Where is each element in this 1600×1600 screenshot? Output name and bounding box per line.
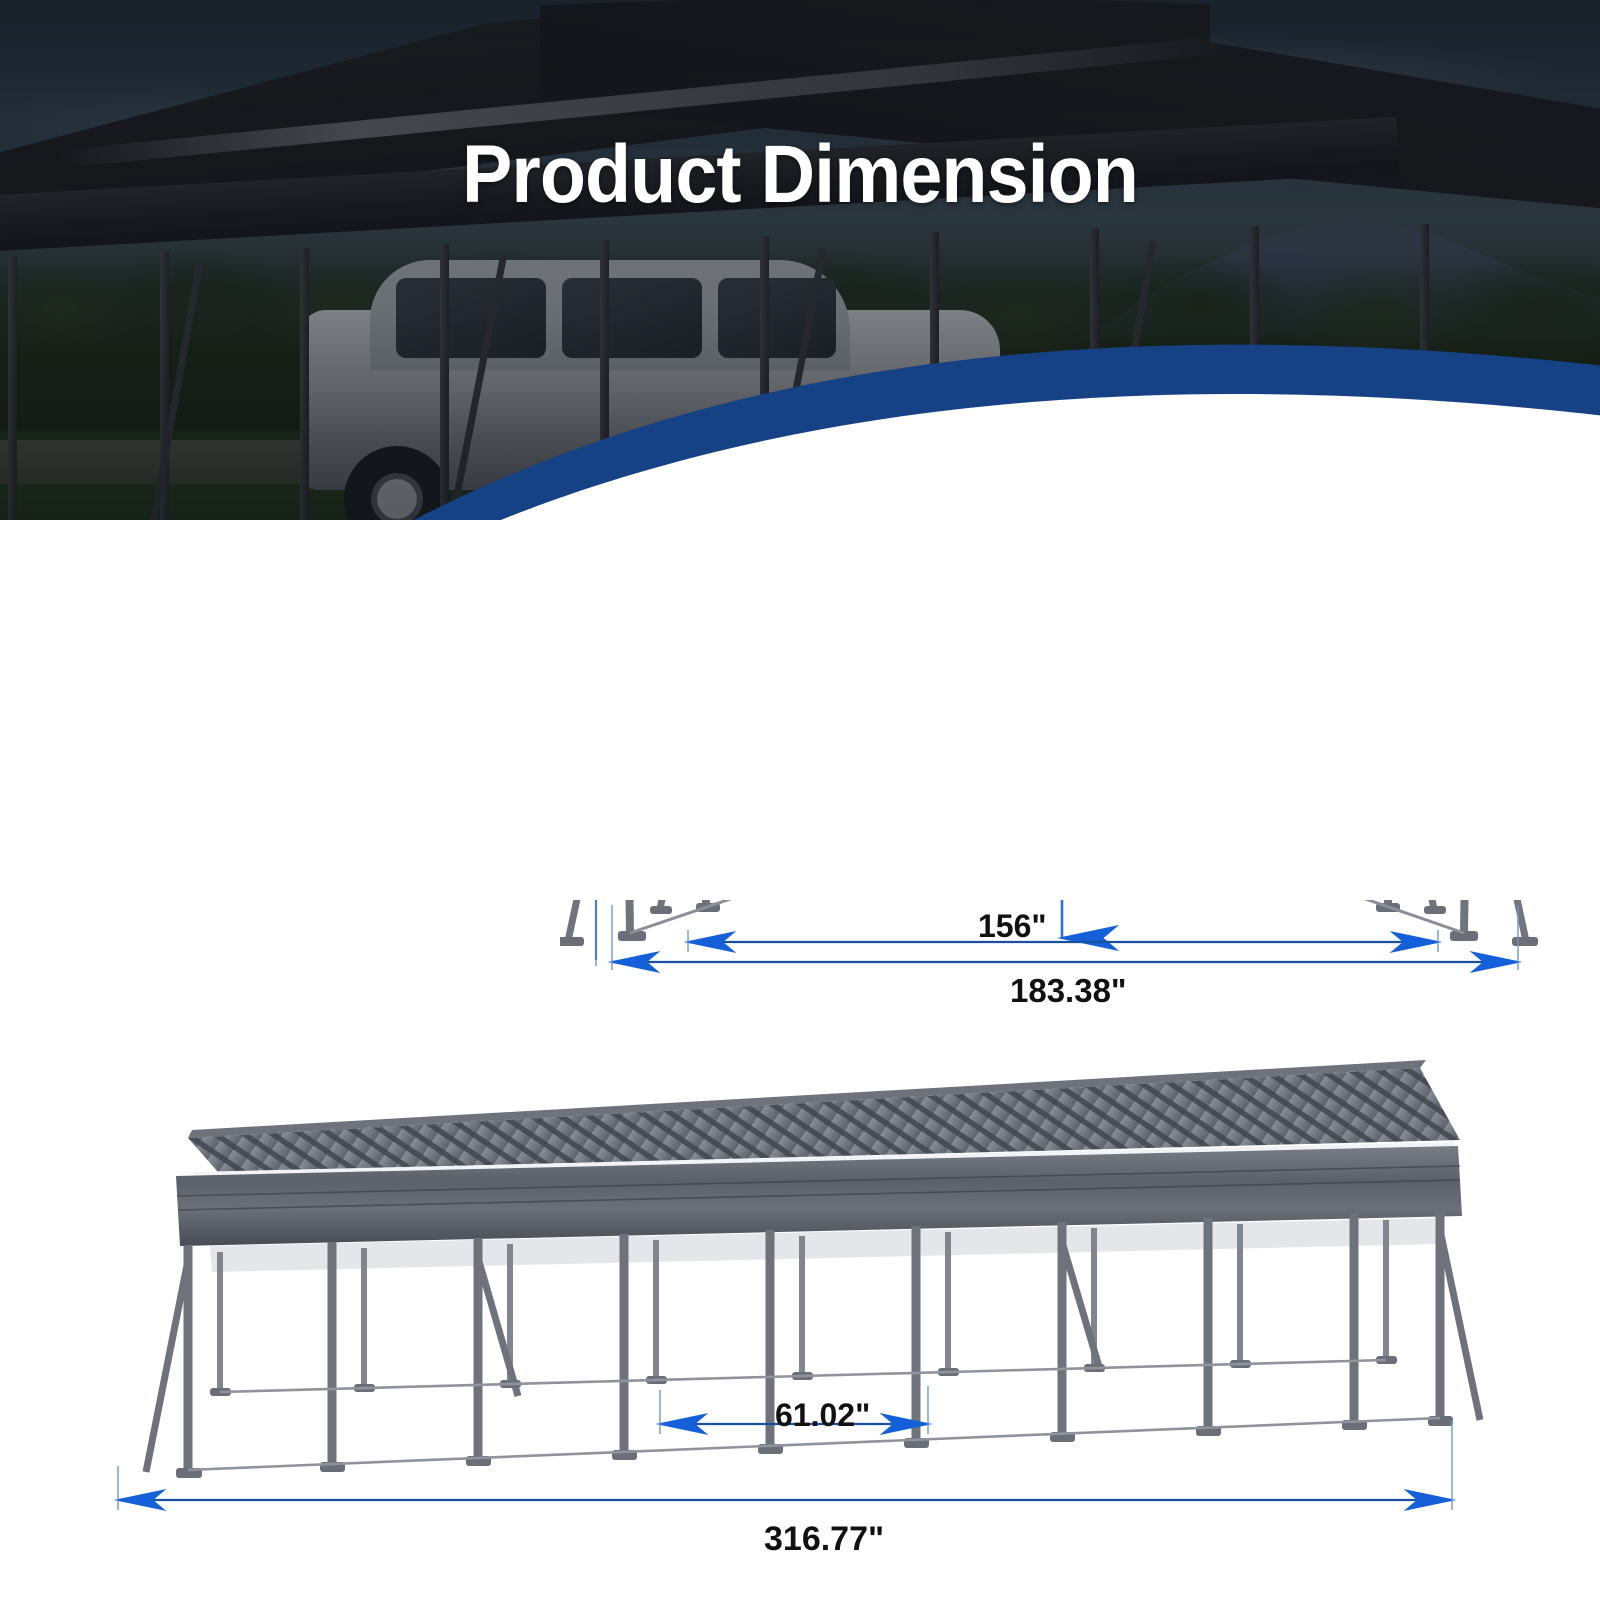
side-view-dimensions (0, 0, 1600, 1600)
dim-label-overall-length: 316.77" (764, 1520, 884, 1559)
infographic-canvas: Product Dimension (0, 0, 1600, 1600)
page-title: Product Dimension (64, 128, 1536, 222)
dim-label-bay-spacing: 61.02" (775, 1397, 870, 1434)
